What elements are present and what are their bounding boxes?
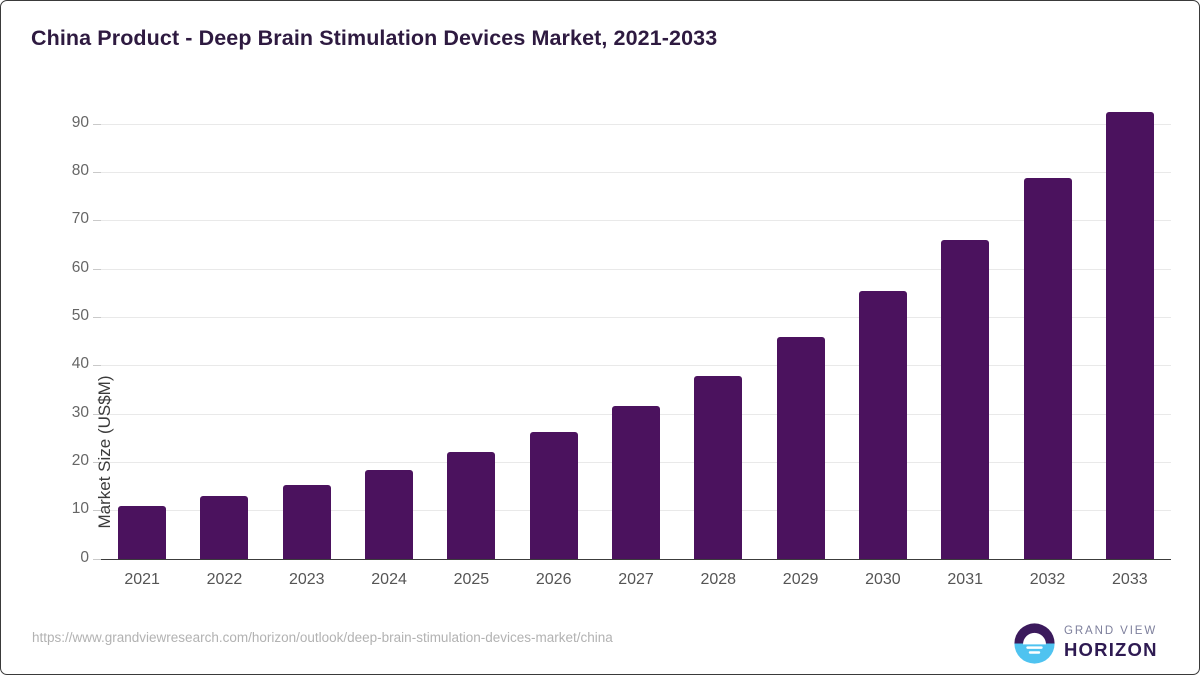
x-axis-tick-label: 2027 bbox=[595, 571, 677, 589]
bar-2032[interactable] bbox=[1024, 178, 1072, 558]
x-axis-tick-label: 2032 bbox=[1006, 571, 1088, 589]
y-axis-tick-label: 10 bbox=[1, 500, 89, 518]
x-axis-tick-label: 2033 bbox=[1089, 571, 1171, 589]
x-axis-tick-label: 2024 bbox=[348, 571, 430, 589]
grand-view-horizon-logo-icon bbox=[1014, 623, 1055, 664]
y-axis-tick-mark bbox=[93, 220, 101, 221]
y-axis-tick-label: 80 bbox=[1, 162, 89, 180]
bar-2023[interactable] bbox=[283, 485, 331, 559]
x-axis-tick-label: 2023 bbox=[266, 571, 348, 589]
y-axis-tick-label: 30 bbox=[1, 404, 89, 422]
x-axis-tick-label: 2030 bbox=[842, 571, 924, 589]
y-axis-tick-label: 0 bbox=[1, 549, 89, 567]
y-axis-tick-label: 40 bbox=[1, 355, 89, 373]
y-axis-tick-mark bbox=[93, 365, 101, 366]
bar-2028[interactable] bbox=[694, 376, 742, 559]
brand-logo[interactable]: GRAND VIEW HORIZON bbox=[1014, 621, 1174, 666]
y-axis-tick-label: 20 bbox=[1, 452, 89, 470]
x-axis-tick-label: 2029 bbox=[759, 571, 841, 589]
y-axis-tick-mark bbox=[93, 414, 101, 415]
y-axis-tick-mark bbox=[93, 462, 101, 463]
y-axis-tick-mark bbox=[93, 317, 101, 318]
logo-line-1: GRAND VIEW bbox=[1064, 624, 1158, 639]
x-axis-tick-label: 2021 bbox=[101, 571, 183, 589]
source-url[interactable]: https://www.grandviewresearch.com/horizo… bbox=[32, 630, 613, 645]
y-axis-tick-label: 70 bbox=[1, 210, 89, 228]
y-axis-tick-mark bbox=[93, 269, 101, 270]
x-axis-tick-label: 2028 bbox=[677, 571, 759, 589]
x-axis-tick-label: 2025 bbox=[430, 571, 512, 589]
x-axis-line bbox=[101, 559, 1171, 561]
y-axis-tick-mark bbox=[93, 124, 101, 125]
bar-2025[interactable] bbox=[447, 452, 495, 559]
bar-2029[interactable] bbox=[777, 337, 825, 558]
bar-2031[interactable] bbox=[941, 240, 989, 559]
logo-wordmark: GRAND VIEW HORIZON bbox=[1064, 624, 1158, 660]
bar-2027[interactable] bbox=[612, 406, 660, 558]
bar-2022[interactable] bbox=[200, 496, 248, 559]
bar-2030[interactable] bbox=[859, 291, 907, 559]
y-axis-tick-mark bbox=[93, 172, 101, 173]
bar-2024[interactable] bbox=[365, 470, 413, 558]
bar-2026[interactable] bbox=[530, 432, 578, 559]
bars-layer bbox=[101, 124, 1171, 559]
bar-2033[interactable] bbox=[1106, 112, 1154, 559]
y-axis-tick-mark bbox=[93, 510, 101, 511]
y-axis-tick-label: 50 bbox=[1, 307, 89, 325]
x-axis-tick-label: 2026 bbox=[513, 571, 595, 589]
y-axis-tick-label: 60 bbox=[1, 259, 89, 277]
chart-screenshot: China Product - Deep Brain Stimulation D… bbox=[0, 0, 1200, 675]
logo-line-2: HORIZON bbox=[1064, 639, 1158, 660]
y-axis-tick-label: 90 bbox=[1, 114, 89, 132]
y-axis-tick-mark bbox=[93, 559, 101, 560]
x-axis-tick-label: 2031 bbox=[924, 571, 1006, 589]
x-axis-tick-label: 2022 bbox=[183, 571, 265, 589]
bar-2021[interactable] bbox=[118, 506, 166, 559]
chart-canvas: 0102030405060708090 20212022202320242025… bbox=[1, 1, 1200, 675]
